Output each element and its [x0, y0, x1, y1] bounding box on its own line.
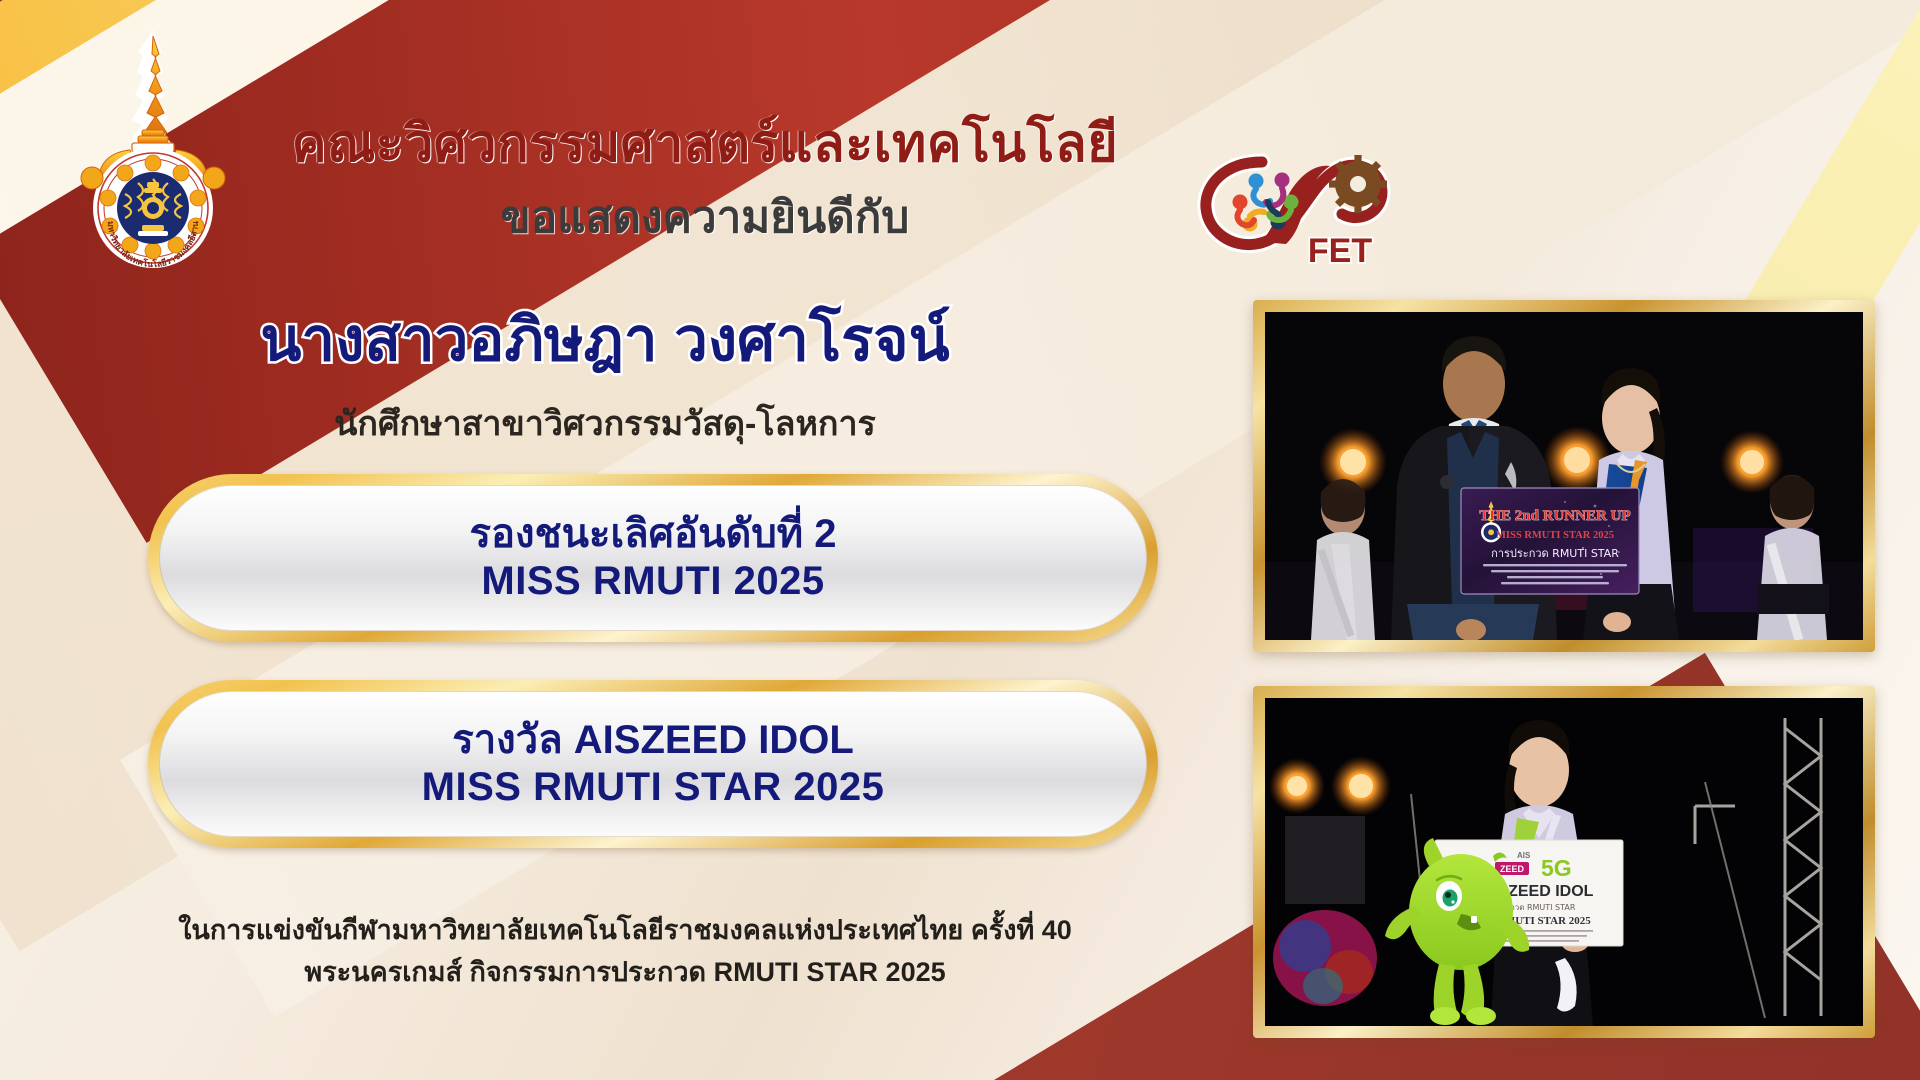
award-ceremony-photo-image: RMUTI STAR [1265, 312, 1863, 640]
event-caption-line1: ในการแข่งขันกีฬามหาวิทยาลัยเทคโนโลยีราชม… [70, 910, 1180, 952]
certificate-zeed: ZEED [1500, 864, 1525, 874]
award-ceremony-photo: RMUTI STAR [1253, 300, 1875, 652]
plaque-title: THE 2nd RUNNER UP [1479, 508, 1630, 524]
award-badge-1: รองชนะเลิศอันดับที่ 2 MISS RMUTI 2025 [148, 474, 1158, 642]
award-badge-2: รางวัล AISZEED IDOL MISS RMUTI STAR 2025 [148, 680, 1158, 848]
award-badge-1-inner: รองชนะเลิศอันดับที่ 2 MISS RMUTI 2025 [159, 485, 1147, 631]
plaque-subtitle: MISS RMUTI STAR 2025 [1496, 530, 1614, 541]
fet-wordmark: FET [1308, 232, 1372, 270]
award-badge-2-inner: รางวัล AISZEED IDOL MISS RMUTI STAR 2025 [159, 691, 1147, 837]
event-caption: ในการแข่งขันกีฬามหาวิทยาลัยเทคโนโลยีราชม… [70, 910, 1180, 994]
awardee-name: นางสาวอภิษฎา วงศาโรจน์ [80, 310, 1130, 370]
event-caption-line2: พระนครเกมส์ กิจกรรมการประกวด RMUTI STAR … [70, 952, 1180, 994]
aiszeed-idol-photo-image: AIS ZEED 5G MISS ZEED IDOL การประกวด RMU… [1265, 698, 1863, 1026]
certificate-brand: AIS [1517, 851, 1531, 860]
certificate-network: 5G [1541, 855, 1572, 881]
faculty-heading: คณะวิศวกรรมศาสตร์และเทคโนโลยี [210, 118, 1200, 170]
congrats-heading: ขอแสดงความยินดีกับ [210, 196, 1200, 240]
award-badge-1-line1: รองชนะเลิศอันดับที่ 2 [469, 511, 836, 558]
fet-infinity-icon: FET [1190, 140, 1400, 275]
plaque-thai-line: การประกวด RMUTI STAR [1491, 547, 1619, 560]
awardee-department: นักศึกษาสาขาวิศวกรรมวัสดุ-โลหการ [80, 407, 1130, 441]
award-badge-2-line2: MISS RMUTI STAR 2025 [422, 764, 885, 811]
award-badge-1-line2: MISS RMUTI 2025 [481, 558, 824, 605]
main-content-column: มหาวิทยาลัยเทคโนโลยีราชมงคลอีสาน [0, 0, 1215, 1080]
aiszeed-idol-photo: AIS ZEED 5G MISS ZEED IDOL การประกวด RMU… [1253, 686, 1875, 1038]
award-badge-2-line1: รางวัล AISZEED IDOL [452, 717, 854, 764]
